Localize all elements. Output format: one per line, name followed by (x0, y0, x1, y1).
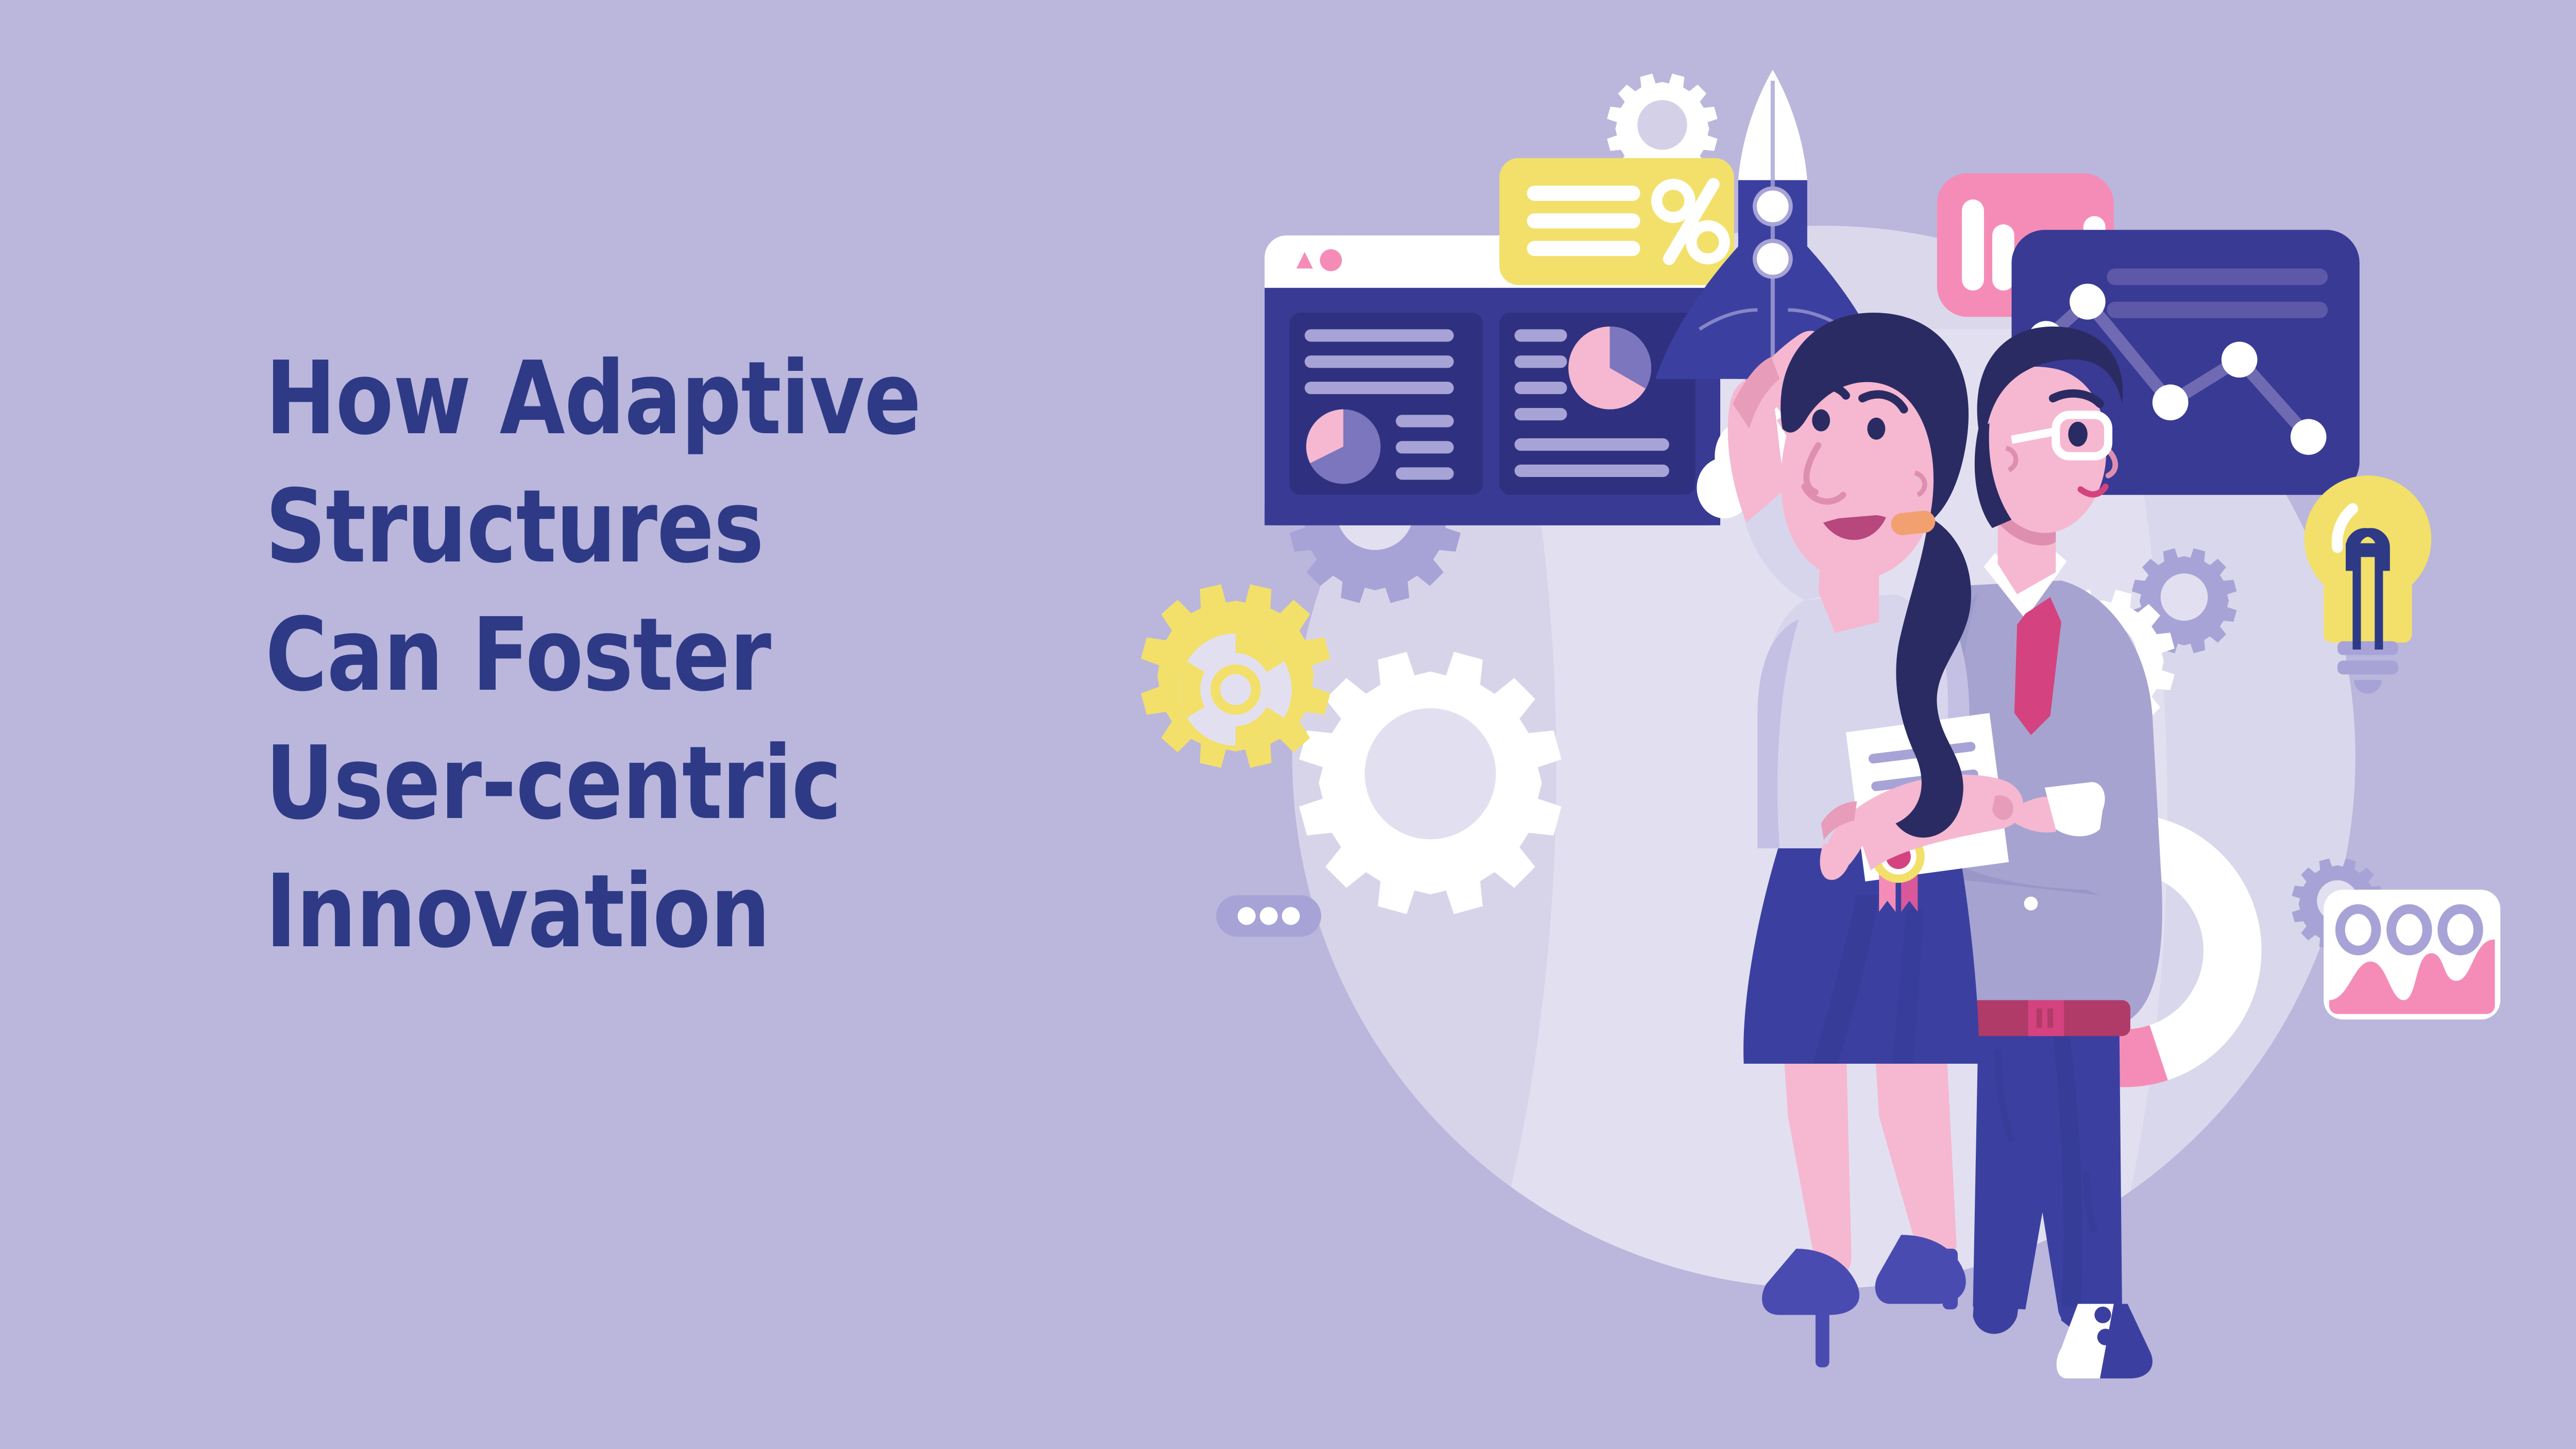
gear-yellow-icon (1141, 584, 1330, 768)
pie-chart-left (1306, 410, 1381, 484)
pie-chart-right (1568, 327, 1651, 410)
wave-chart-card[interactable] (2324, 890, 2500, 1019)
circle-glyph-icon (1320, 249, 1342, 271)
title-line-4: User-centric (265, 720, 1128, 848)
title-line-3: Can Foster (265, 591, 1128, 720)
hero-illustration (1133, 67, 2514, 1447)
gear-white-large-icon (1299, 652, 1562, 914)
title-line-1: How Adaptive (265, 335, 1128, 463)
title-line-5: Innovation (265, 848, 1128, 976)
poster-canvas: How Adaptive Structures Can Foster User-… (0, 0, 2576, 1449)
page-title: How Adaptive Structures Can Foster User-… (265, 335, 1128, 976)
bar-1 (1962, 199, 1984, 291)
discount-card[interactable] (1499, 158, 1734, 285)
title-line-2: Structures (265, 463, 1128, 591)
dots-pill-icon (1216, 895, 1321, 936)
bar-2 (1992, 225, 2014, 291)
